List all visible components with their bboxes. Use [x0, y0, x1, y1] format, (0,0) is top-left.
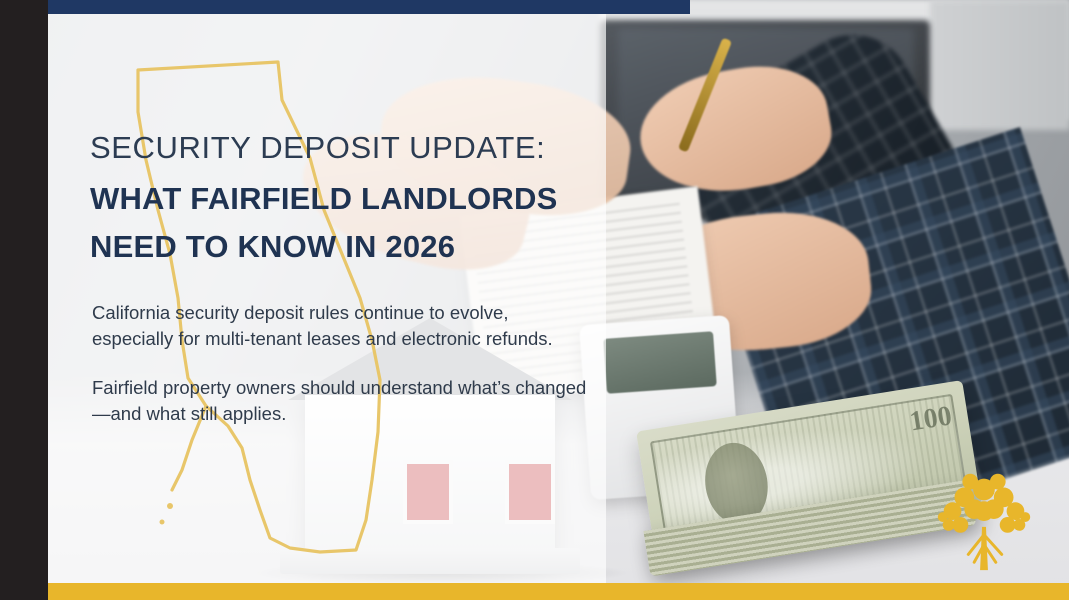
headline-line-2: WHAT FAIRFIELD LANDLORDS NEED TO KNOW IN…: [90, 175, 590, 271]
top-navy-accent-bar: [48, 0, 690, 14]
body-paragraph-2: Fairfield property owners should underst…: [92, 375, 592, 428]
photo-wall-panel: [930, 0, 1069, 130]
tree-logo-icon: [923, 460, 1045, 578]
left-accent-bar: [0, 0, 48, 600]
headline-block: SECURITY DEPOSIT UPDATE: WHAT FAIRFIELD …: [90, 132, 590, 271]
headline-line-2a: WHAT FAIRFIELD LANDLORDS: [90, 175, 590, 223]
headline-line-2b: NEED TO KNOW IN 2026: [90, 223, 590, 271]
marketing-graphic: 100 SECURITY DEPOSIT UPDATE: WHAT FAIRFI…: [0, 0, 1069, 600]
headline-line-1: SECURITY DEPOSIT UPDATE:: [90, 132, 590, 163]
body-copy-block: California security deposit rules contin…: [92, 300, 592, 427]
body-paragraph-1: California security deposit rules contin…: [92, 300, 592, 353]
bottom-gold-accent-bar: [0, 583, 1069, 600]
bottom-left-dark-accent: [0, 583, 48, 600]
photo-money-denomination: 100: [908, 400, 954, 438]
photo-calculator-screen: [603, 331, 717, 394]
